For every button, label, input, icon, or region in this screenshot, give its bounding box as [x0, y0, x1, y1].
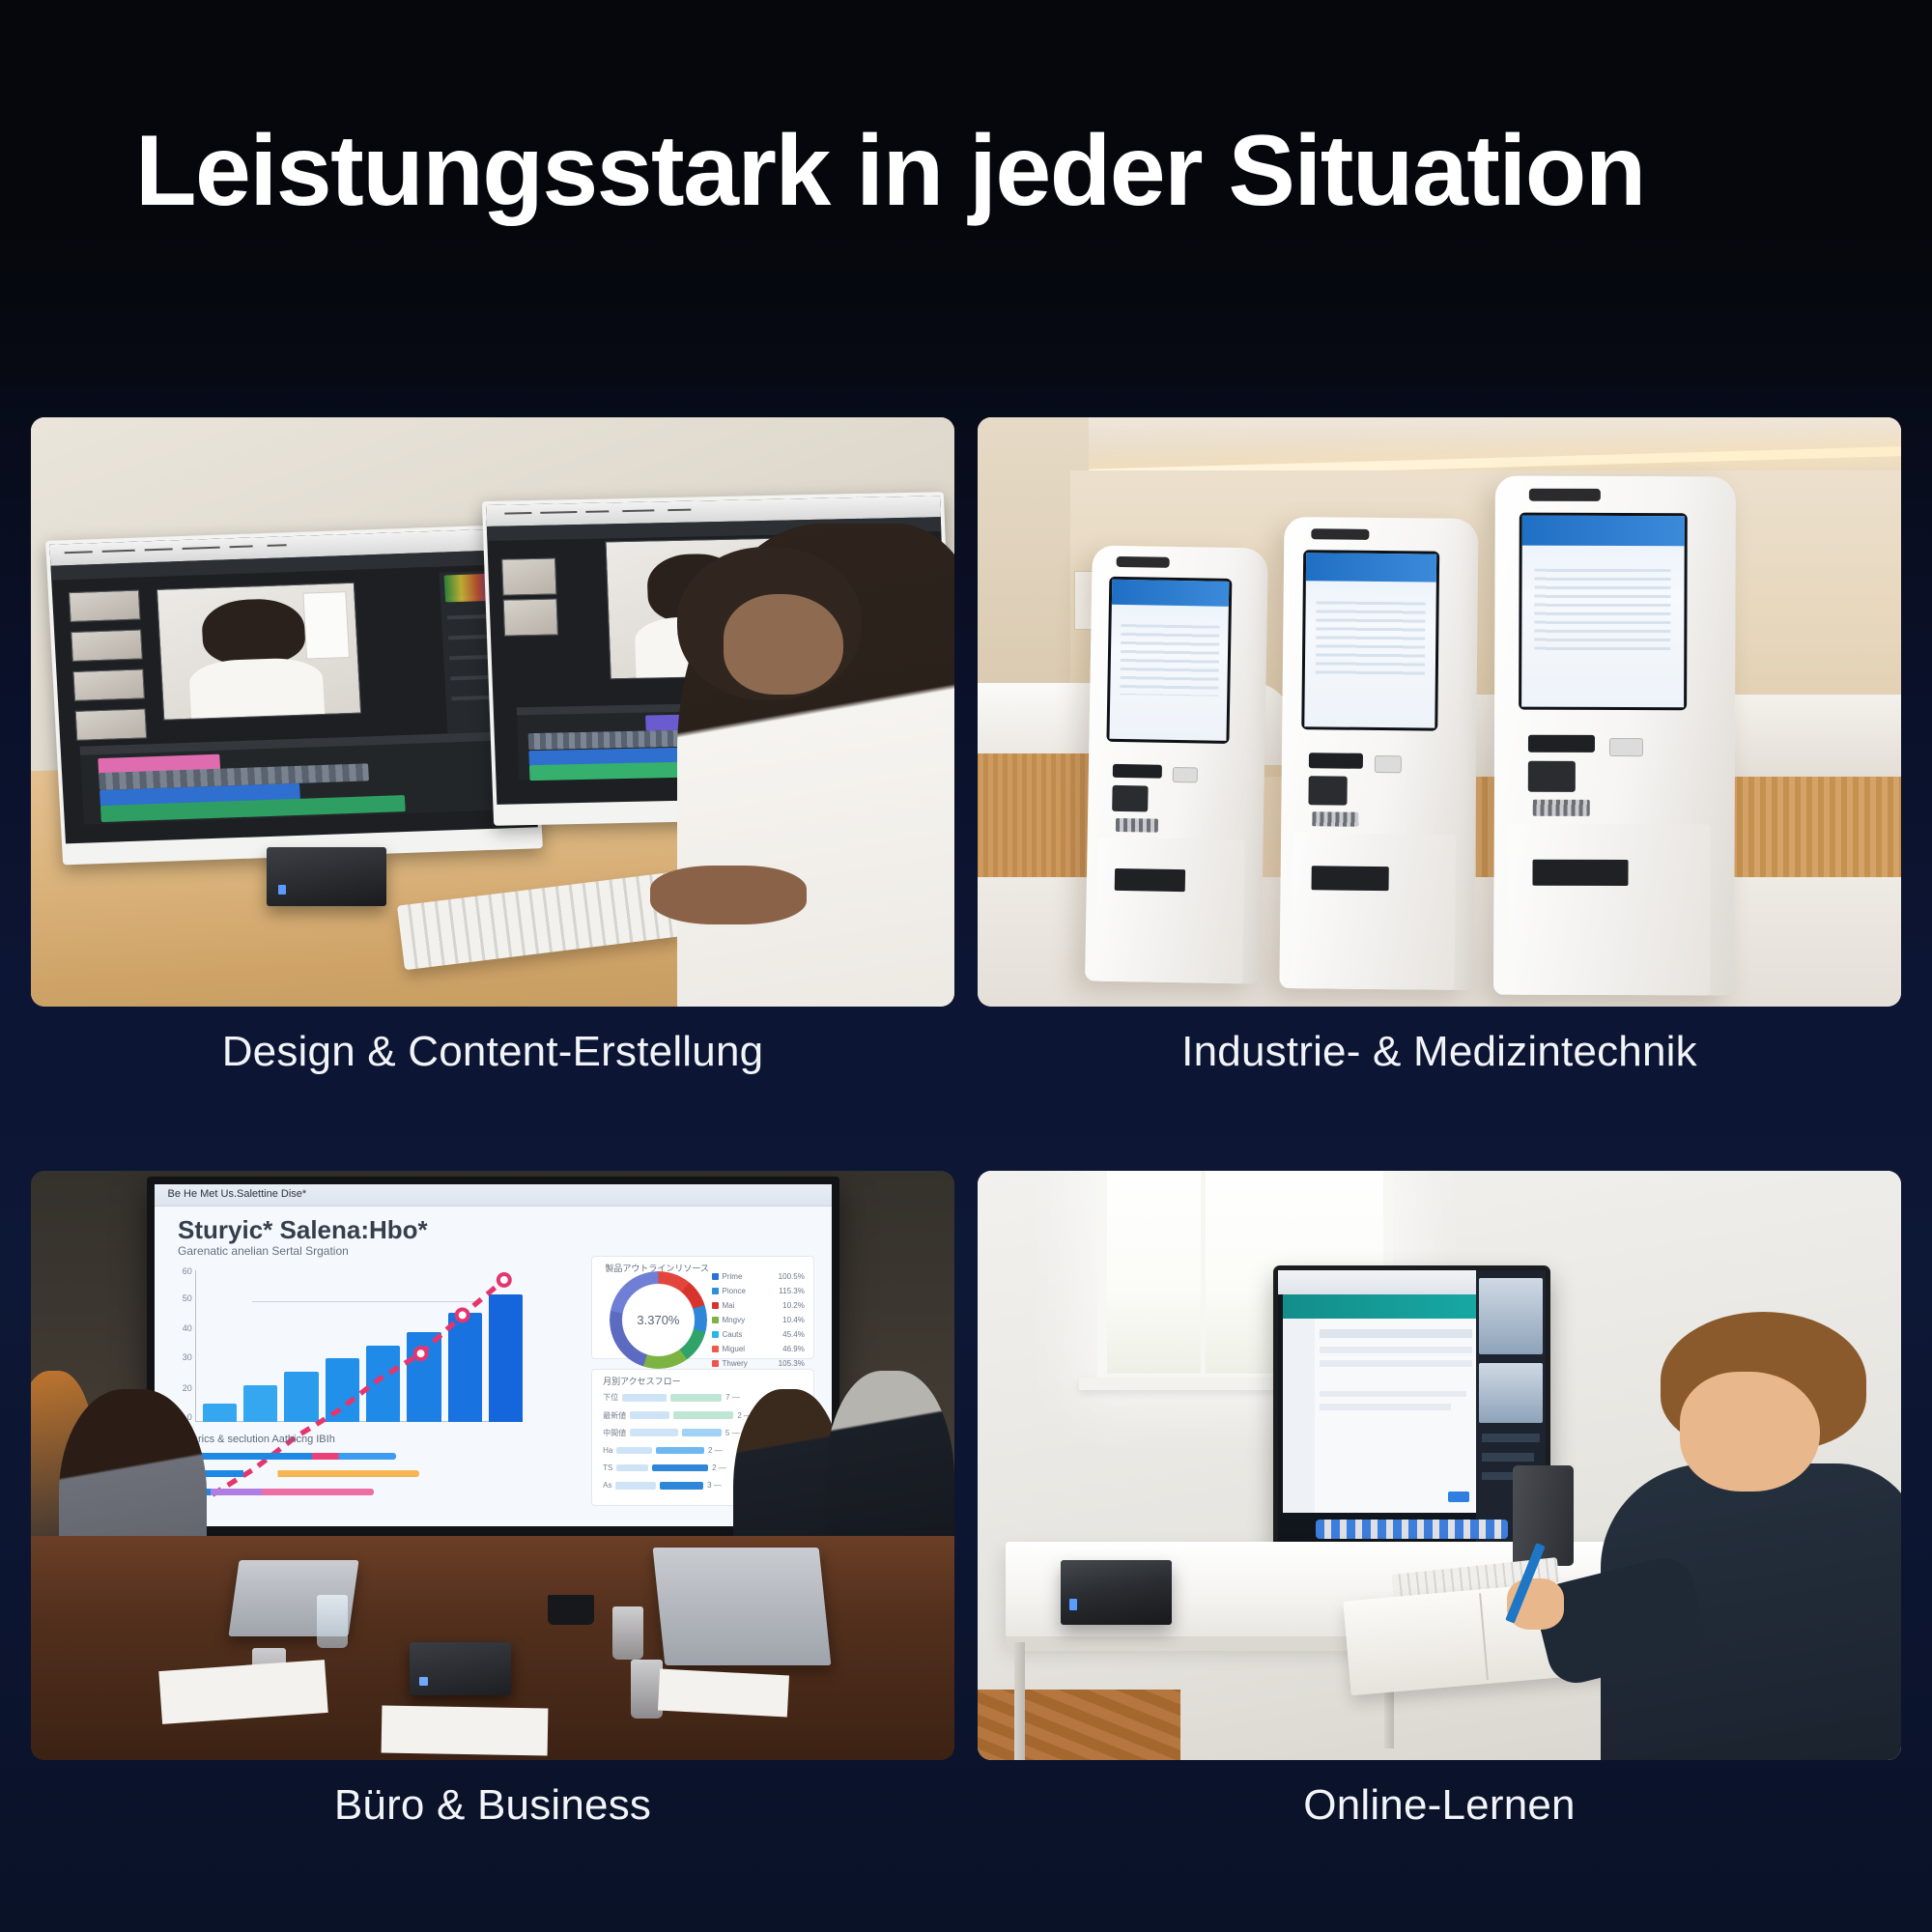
clip-thumbnails-left	[69, 589, 148, 741]
photo-design-content	[31, 417, 954, 1007]
receipt-slot	[1173, 767, 1198, 783]
kiosk-terminal-1[interactable]	[1085, 546, 1267, 984]
card-slot	[1309, 753, 1363, 768]
metrics-bars: Metarics & seclution Aathicng IBIh	[175, 1444, 459, 1513]
kiosk-screen-1[interactable]	[1106, 577, 1232, 745]
monitor-left-screen	[49, 528, 538, 843]
paper-documents-right	[658, 1668, 789, 1717]
kiosk-screen-2[interactable]	[1302, 550, 1439, 730]
student-face	[1680, 1372, 1820, 1492]
kiosk-camera-icon	[1529, 489, 1602, 501]
mini-pc	[267, 847, 386, 906]
page-title: Leistungsstark in jeder Situation	[135, 114, 1645, 229]
participant-video-2	[1479, 1363, 1543, 1423]
metric-row-2	[175, 1470, 419, 1477]
keypad-strip[interactable]	[1313, 811, 1359, 826]
mini-pc-student	[1061, 1560, 1172, 1625]
paper-documents-center	[382, 1706, 549, 1756]
keypad-strip[interactable]	[1533, 800, 1591, 815]
kiosk-vent	[1114, 868, 1184, 892]
donut-center-label: 3.370%	[610, 1271, 707, 1369]
monitor-bezel	[1273, 1265, 1550, 1548]
kiosk-base-3	[1508, 823, 1710, 995]
app-sidebar[interactable]	[1283, 1319, 1315, 1513]
clip-thumbnails-right	[501, 558, 558, 638]
taskbar-dock[interactable]	[1316, 1520, 1508, 1539]
monitor-left	[45, 525, 543, 865]
legend-item: Mngvy10.4%	[712, 1316, 805, 1324]
kiosk-vent	[1312, 866, 1390, 890]
app-header	[1283, 1294, 1477, 1319]
keypad-strip[interactable]	[1116, 818, 1158, 832]
legend-item: Mai10.2%	[712, 1301, 805, 1310]
photo-buero-business: Be He Met Us.Salettine Dise* Sturyic* Sa…	[31, 1171, 954, 1760]
donut-chart-card: 製品アウトラインリソース 3.370% Prime100.5% Pionce11…	[591, 1256, 814, 1358]
y-tick-20: 20	[175, 1383, 192, 1393]
kiosk-screen-3[interactable]	[1519, 512, 1688, 710]
donut-legend: Prime100.5% Pionce115.3% Mai10.2% Mngvy1…	[712, 1272, 805, 1374]
dashboard-window-title: Be He Met Us.Salettine Dise*	[168, 1188, 307, 1200]
photo-industrie-medizintechnik	[978, 417, 1901, 1007]
y-tick-30: 30	[175, 1352, 192, 1362]
legend-item: Pionce115.3%	[712, 1287, 805, 1295]
use-case-card-design-content[interactable]: Design & Content-Erstellung	[31, 417, 954, 1007]
caption-design-content: Design & Content-Erstellung	[31, 1028, 954, 1076]
pin-pad[interactable]	[1528, 761, 1577, 792]
y-tick-60: 60	[175, 1266, 192, 1276]
timeline-left	[79, 731, 518, 824]
pin-pad[interactable]	[1309, 776, 1348, 805]
y-axis	[195, 1270, 196, 1423]
bar-chart: 60 50 40 30 20 0	[175, 1266, 527, 1437]
use-case-grid: Design & Content-Erstellung	[31, 417, 1901, 1886]
pin-pad[interactable]	[1112, 785, 1148, 812]
all-in-one-monitor[interactable]	[1273, 1265, 1550, 1548]
receipt-slot	[1610, 738, 1644, 756]
legend-item: Thwery105.3%	[712, 1359, 805, 1368]
legend-item: Miguel46.9%	[712, 1345, 805, 1353]
student	[1587, 1312, 1901, 1760]
kiosk-base-1	[1095, 838, 1245, 984]
y-tick-50: 50	[175, 1293, 192, 1303]
dashboard-subheading: Garenatic anelian Sertal Srgation	[178, 1244, 349, 1258]
participant-video-1	[1479, 1278, 1543, 1354]
person-face	[724, 594, 843, 695]
kiosk-vent	[1533, 860, 1629, 886]
use-case-card-online-lernen[interactable]: Online-Lernen	[978, 1171, 1901, 1760]
y-tick-40: 40	[175, 1323, 192, 1333]
photo-online-lernen	[978, 1171, 1901, 1760]
water-glass-1	[317, 1595, 348, 1648]
kiosk-camera-icon	[1312, 528, 1370, 540]
monitor-screen	[1278, 1270, 1546, 1544]
data-table-title: 月別アクセスフロー	[603, 1375, 681, 1387]
video-preview-left	[156, 582, 361, 720]
dashboard-heading: Sturyic* Salena:Hbo*	[178, 1215, 428, 1245]
water-glass-3	[612, 1606, 643, 1660]
kiosk-base-2	[1292, 833, 1456, 990]
use-case-card-industrie-medizintechnik[interactable]: Industrie- & Medizintechnik	[978, 417, 1901, 1007]
legend-item: Cauts45.4%	[712, 1330, 805, 1339]
dashboard-screen: Be He Met Us.Salettine Dise* Sturyic* Sa…	[155, 1184, 832, 1526]
legend-item: Prime100.5%	[712, 1272, 805, 1281]
mini-pc-conference	[410, 1642, 511, 1695]
laptop-right[interactable]	[653, 1548, 832, 1665]
caption-online-lernen: Online-Lernen	[978, 1781, 1901, 1830]
kiosk-terminal-2[interactable]	[1280, 517, 1479, 990]
card-slot	[1113, 764, 1162, 779]
card-slot	[1528, 735, 1596, 752]
person-hand	[650, 866, 808, 924]
kiosk-camera-icon	[1117, 556, 1170, 568]
kiosk-terminal-3[interactable]	[1493, 476, 1735, 996]
desk-leg-left	[1014, 1642, 1025, 1760]
header: Leistungsstark in jeder Situation	[0, 0, 1932, 386]
receipt-slot	[1376, 755, 1403, 773]
caption-industrie-medizintechnik: Industrie- & Medizintechnik	[978, 1028, 1901, 1076]
promo-page: Leistungsstark in jeder Situation	[0, 0, 1932, 1932]
use-case-card-buero-business[interactable]: Be He Met Us.Salettine Dise* Sturyic* Sa…	[31, 1171, 954, 1760]
metric-row-1	[175, 1453, 397, 1460]
coffee-cup	[548, 1595, 594, 1625]
wood-floor	[978, 1690, 1180, 1760]
caption-buero-business: Büro & Business	[31, 1781, 954, 1830]
